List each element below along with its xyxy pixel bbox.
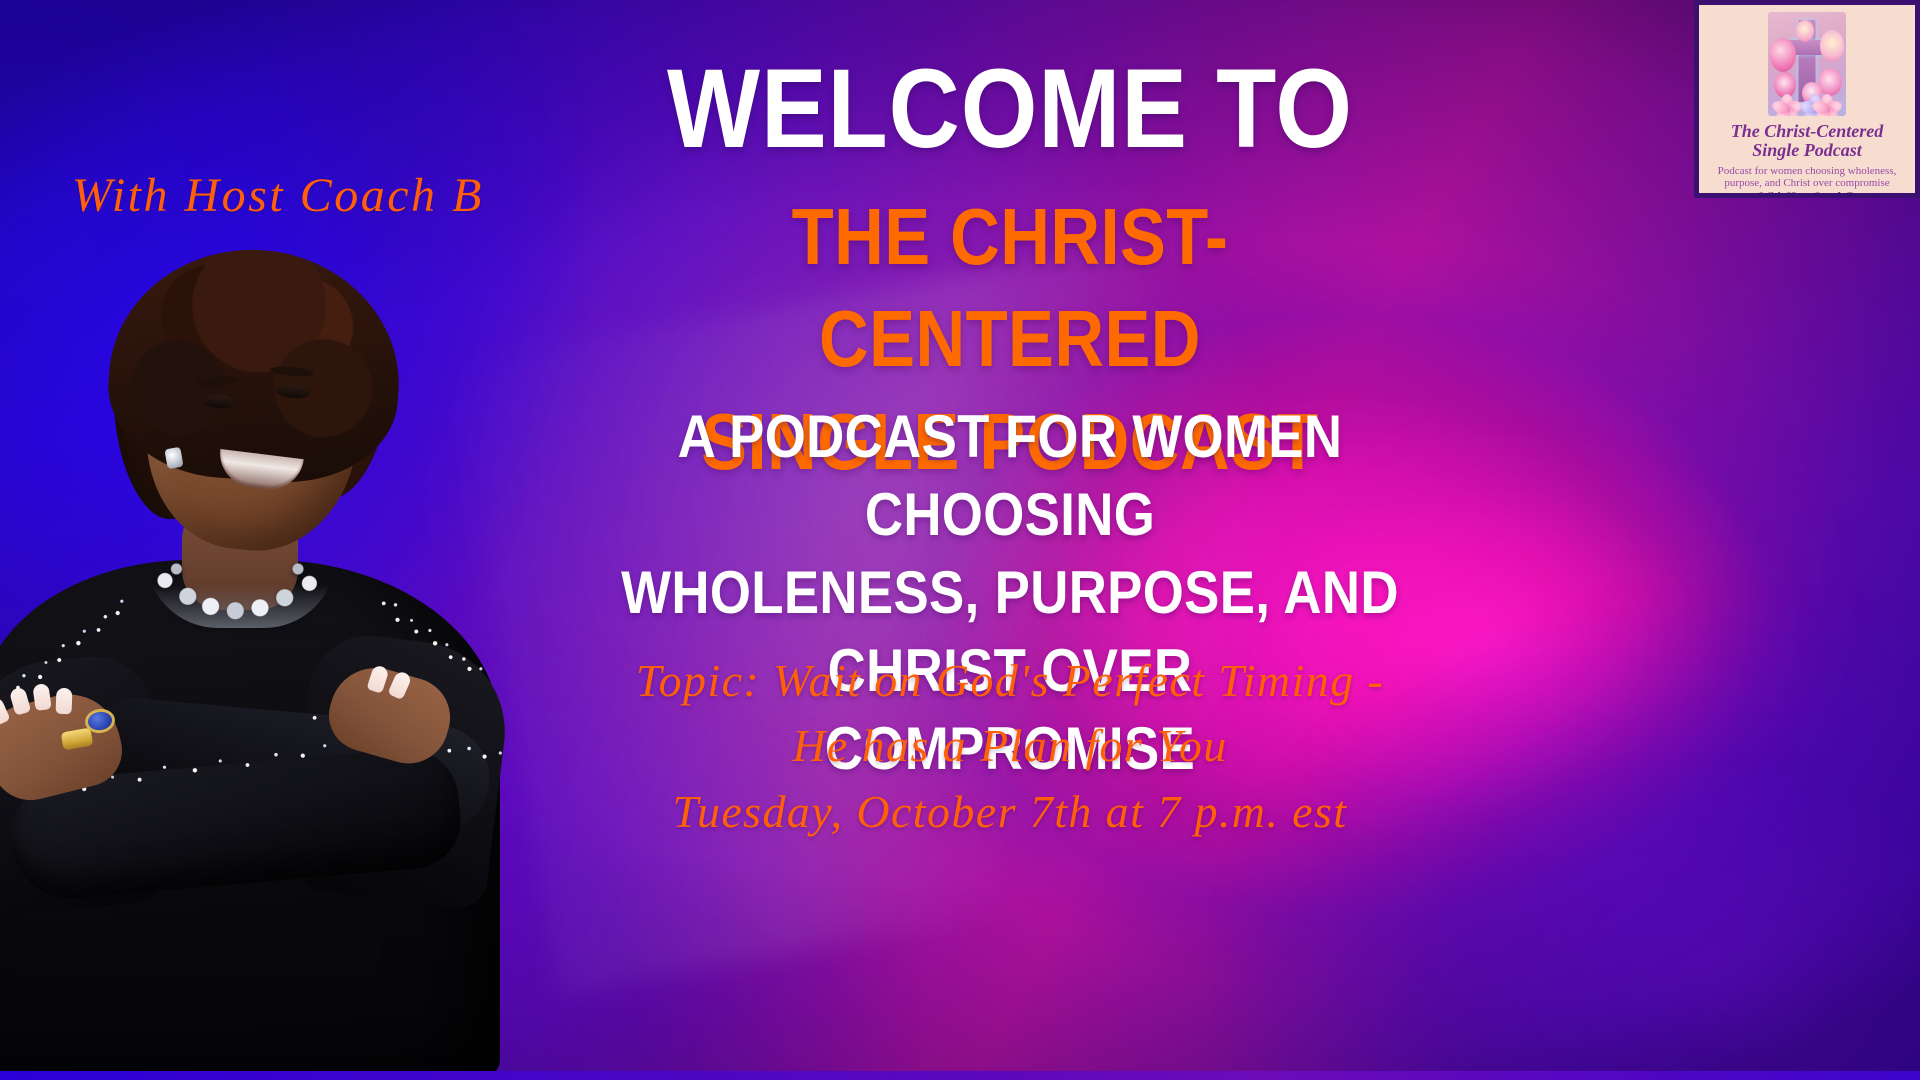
flower-bloom	[1770, 38, 1796, 72]
headline-block: WELCOME TO THE CHRIST-CENTERED SINGLE PO…	[560, 0, 1460, 1080]
welcome-heading: WELCOME TO	[614, 52, 1406, 166]
foreground-flower	[1772, 92, 1802, 116]
cover-subtitle: Podcast for women choosing wholeness, pu…	[1699, 165, 1915, 190]
cover-title-line-1: The Christ-Centered	[1699, 122, 1915, 141]
podcast-cover-art: The Christ-Centered Single Podcast Podca…	[1694, 0, 1920, 198]
topic-block: Topic: Wait on God's Perfect Timing - He…	[560, 648, 1460, 844]
cover-subtitle-line-2: purpose, and Christ over compromise	[1705, 177, 1909, 190]
foreground-flower	[1812, 92, 1842, 116]
host-portrait	[0, 220, 530, 1080]
promo-graphic: With Host Coach B W	[0, 0, 1920, 1080]
cover-host-credit: With Host Coach B	[1699, 191, 1915, 198]
cover-title-line-2: Single Podcast	[1699, 141, 1915, 160]
host-credit-text: With Host Coach B	[72, 168, 484, 223]
cover-subtitle-line-1: Podcast for women choosing wholeness,	[1705, 165, 1909, 178]
topic-line-2: He has a Plan for You	[560, 713, 1460, 778]
tagline-line-1: A PODCAST FOR WOMEN CHOOSING	[598, 398, 1422, 554]
portrait-fingernail	[56, 688, 73, 715]
flower-bloom	[1820, 30, 1844, 62]
cover-title: The Christ-Centered Single Podcast	[1699, 122, 1915, 161]
brand-line-1: THE CHRIST-CENTERED	[623, 186, 1397, 391]
topic-line-1: Topic: Wait on God's Perfect Timing -	[560, 648, 1460, 713]
topic-line-3: Tuesday, October 7th at 7 p.m. est	[560, 779, 1460, 844]
flower-bloom	[1796, 20, 1814, 42]
portrait-earring	[164, 447, 183, 469]
cross-with-flowers-icon	[1768, 12, 1846, 116]
bottom-accent-bar	[0, 1071, 1920, 1080]
